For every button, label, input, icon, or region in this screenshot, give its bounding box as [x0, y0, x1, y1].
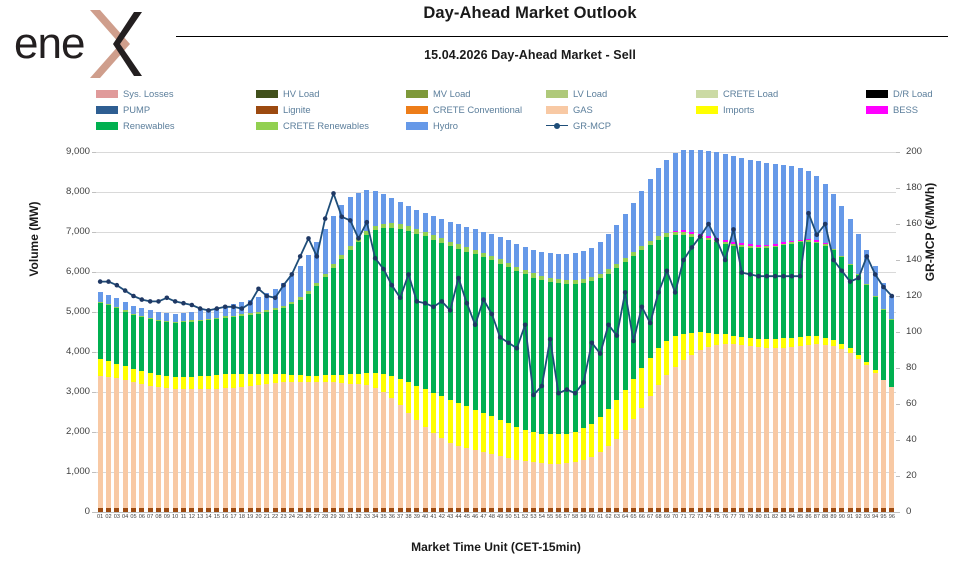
- gr-mcp-data-point[interactable]: [615, 333, 620, 338]
- gr-mcp-line-series: [96, 152, 896, 512]
- y2-axis-tick-mark: [896, 152, 900, 153]
- legend-item-gr-mcp[interactable]: GR-MCP: [546, 120, 611, 131]
- gr-mcp-data-point[interactable]: [831, 258, 836, 263]
- gr-mcp-data-point[interactable]: [590, 341, 595, 346]
- gr-mcp-data-point[interactable]: [648, 321, 653, 326]
- y2-axis-tick-label: 80: [906, 362, 946, 373]
- gr-mcp-data-point[interactable]: [115, 283, 120, 288]
- x-axis-tick-label: 80: [754, 514, 762, 520]
- gr-mcp-data-point[interactable]: [206, 308, 211, 313]
- x-axis-tick-label: 11: [179, 514, 187, 520]
- gr-mcp-line-path: [100, 193, 892, 395]
- gr-mcp-data-point[interactable]: [798, 274, 803, 279]
- x-axis-tick-label: 55: [546, 514, 554, 520]
- gr-mcp-data-point[interactable]: [356, 236, 361, 241]
- chart-legend: Sys. LossesHV LoadMV LoadLV LoadCRETE Lo…: [96, 88, 916, 134]
- gr-mcp-data-point[interactable]: [315, 254, 320, 259]
- x-axis-tick-label: 59: [579, 514, 587, 520]
- gr-mcp-data-point[interactable]: [240, 306, 245, 311]
- x-axis-tick-label: 88: [821, 514, 829, 520]
- legend-item-hv-load[interactable]: HV Load: [256, 88, 319, 99]
- gr-mcp-data-point[interactable]: [198, 306, 203, 311]
- legend-item-label: GR-MCP: [573, 120, 611, 131]
- legend-item-label: Hydro: [433, 120, 458, 131]
- gr-mcp-data-point[interactable]: [223, 305, 228, 310]
- legend-color-swatch-icon: [866, 106, 888, 114]
- gr-mcp-data-point[interactable]: [123, 288, 128, 293]
- x-axis-tick-label: 21: [263, 514, 271, 520]
- x-axis-tick-label: 63: [613, 514, 621, 520]
- legend-item-mv-load[interactable]: MV Load: [406, 88, 471, 99]
- legend-item-label: Renewables: [123, 120, 175, 131]
- x-axis-title: Market Time Unit (CET-15min): [96, 540, 896, 554]
- y-axis-tick-mark: [92, 472, 96, 473]
- gr-mcp-data-point[interactable]: [265, 294, 270, 299]
- gr-mcp-data-point[interactable]: [823, 222, 828, 227]
- legend-item-label: CRETE Renewables: [283, 120, 369, 131]
- x-axis-tick-label: 25: [296, 514, 304, 520]
- gr-mcp-data-point[interactable]: [531, 393, 536, 398]
- legend-color-swatch-icon: [406, 106, 428, 114]
- x-axis-tick-label: 29: [329, 514, 337, 520]
- legend-item-d-r-load[interactable]: D/R Load: [866, 88, 933, 99]
- x-axis-tick-label: 34: [371, 514, 379, 520]
- x-axis-tick-label: 75: [713, 514, 721, 520]
- gr-mcp-data-point[interactable]: [306, 236, 311, 241]
- x-axis-tick-label: 48: [488, 514, 496, 520]
- y2-axis-tick-mark: [896, 260, 900, 261]
- x-axis-tick-label: 26: [304, 514, 312, 520]
- gr-mcp-data-point[interactable]: [415, 299, 420, 304]
- x-axis-tick-label: 51: [513, 514, 521, 520]
- legend-item-lv-load[interactable]: LV Load: [546, 88, 607, 99]
- x-axis-tick-label: 95: [879, 514, 887, 520]
- gr-mcp-data-point[interactable]: [840, 269, 845, 274]
- y2-axis-tick-mark: [896, 404, 900, 405]
- x-axis-tick-label: 10: [171, 514, 179, 520]
- legend-item-crete-conventional[interactable]: CRETE Conventional: [406, 104, 522, 115]
- gr-mcp-data-point[interactable]: [298, 254, 303, 259]
- x-axis-tick-label: 53: [529, 514, 537, 520]
- y-axis-tick-label: 1,000: [34, 466, 90, 477]
- legend-item-pump[interactable]: PUMP: [96, 104, 150, 115]
- y-axis-tick-label: 5,000: [34, 306, 90, 317]
- legend-color-swatch-icon: [546, 90, 568, 98]
- gr-mcp-data-point[interactable]: [456, 276, 461, 281]
- gr-mcp-data-point[interactable]: [98, 279, 103, 284]
- x-axis-tick-label: 03: [113, 514, 121, 520]
- x-axis-tick-label: 71: [679, 514, 687, 520]
- gr-mcp-data-point[interactable]: [506, 341, 511, 346]
- gr-mcp-data-point[interactable]: [765, 274, 770, 279]
- gr-mcp-data-point[interactable]: [423, 301, 428, 306]
- x-axis-tick-label: 18: [238, 514, 246, 520]
- gr-mcp-data-point[interactable]: [731, 227, 736, 232]
- gr-mcp-data-point[interactable]: [523, 323, 528, 328]
- legend-item-renewables[interactable]: Renewables: [96, 120, 175, 131]
- legend-item-label: Lignite: [283, 104, 311, 115]
- y-axis-tick-mark: [92, 272, 96, 273]
- x-axis-tick-label: 90: [838, 514, 846, 520]
- y-axis-tick-label: 7,000: [34, 226, 90, 237]
- x-axis-tick-label: 43: [446, 514, 454, 520]
- y-axis-tick-label: 9,000: [34, 146, 90, 157]
- y-axis-tick-label: 8,000: [34, 186, 90, 197]
- gr-mcp-data-point[interactable]: [673, 290, 678, 295]
- gr-mcp-data-point[interactable]: [890, 294, 895, 299]
- x-axis-tick-label: 09: [163, 514, 171, 520]
- gr-mcp-data-point[interactable]: [140, 297, 145, 302]
- x-axis-tick-label: 04: [121, 514, 129, 520]
- svg-text:ene: ene: [14, 19, 84, 68]
- y-axis-tick-mark: [92, 512, 96, 513]
- x-axis-tick-label: 42: [438, 514, 446, 520]
- y-axis-left-title: Volume (MW): [27, 139, 41, 339]
- x-axis-tick-label: 13: [196, 514, 204, 520]
- x-axis-tick-label: 93: [863, 514, 871, 520]
- y-axis-tick-mark: [92, 192, 96, 193]
- gr-mcp-data-point[interactable]: [173, 299, 178, 304]
- legend-item-label: GAS: [573, 104, 593, 115]
- x-axis-tick-label: 91: [846, 514, 854, 520]
- x-axis-tick-label: 74: [704, 514, 712, 520]
- gr-mcp-data-point[interactable]: [781, 274, 786, 279]
- gr-mcp-data-point[interactable]: [440, 299, 445, 304]
- x-axis-tick-label: 28: [321, 514, 329, 520]
- x-axis-tick-label: 62: [604, 514, 612, 520]
- x-axis-tick-label: 96: [888, 514, 896, 520]
- y-axis-tick-label: 2,000: [34, 426, 90, 437]
- gr-mcp-data-point[interactable]: [131, 294, 136, 299]
- y2-axis-tick-mark: [896, 224, 900, 225]
- legend-item-label: Imports: [723, 104, 754, 115]
- y2-axis-tick-label: 40: [906, 434, 946, 445]
- chart-plot-area: [96, 152, 896, 512]
- x-axis-tick-label: 14: [204, 514, 212, 520]
- x-axis-tick-label: 76: [721, 514, 729, 520]
- gr-mcp-data-point[interactable]: [848, 279, 853, 284]
- x-axis-tick-label: 30: [338, 514, 346, 520]
- legend-color-swatch-icon: [256, 106, 278, 114]
- y-axis-tick-label: 0: [34, 506, 90, 517]
- gr-mcp-data-point[interactable]: [865, 254, 870, 259]
- legend-item-label: Sys. Losses: [123, 88, 174, 99]
- y-axis-tick-mark: [92, 312, 96, 313]
- x-axis-tick-label: 66: [638, 514, 646, 520]
- x-axis-tick-label: 17: [229, 514, 237, 520]
- gr-mcp-data-point[interactable]: [290, 272, 295, 277]
- x-axis-tick-label: 20: [254, 514, 262, 520]
- gr-mcp-data-point[interactable]: [148, 299, 153, 304]
- gr-mcp-data-point[interactable]: [406, 272, 411, 277]
- x-axis-tick-label: 27: [313, 514, 321, 520]
- x-axis-tick-label: 72: [688, 514, 696, 520]
- gr-mcp-data-point[interactable]: [281, 283, 286, 288]
- gr-mcp-data-point[interactable]: [465, 301, 470, 306]
- x-axis-tick-label: 60: [588, 514, 596, 520]
- y-axis-tick-mark: [92, 232, 96, 233]
- legend-item-label: BESS: [893, 104, 918, 115]
- legend-item-label: D/R Load: [893, 88, 933, 99]
- gr-mcp-data-point[interactable]: [748, 272, 753, 277]
- legend-item-imports[interactable]: Imports: [696, 104, 754, 115]
- x-axis-tick-label: 73: [696, 514, 704, 520]
- gr-mcp-data-point[interactable]: [490, 312, 495, 317]
- enex-logo: ene: [8, 8, 148, 80]
- y-axis-tick-label: 4,000: [34, 346, 90, 357]
- gr-mcp-data-point[interactable]: [623, 290, 628, 295]
- gr-mcp-data-point[interactable]: [640, 305, 645, 310]
- x-axis-tick-label: 06: [138, 514, 146, 520]
- title-divider: [176, 36, 948, 37]
- legend-item-gas[interactable]: GAS: [546, 104, 593, 115]
- gr-mcp-data-point[interactable]: [690, 245, 695, 250]
- gr-mcp-data-point[interactable]: [431, 305, 436, 310]
- gr-mcp-data-point[interactable]: [698, 234, 703, 239]
- x-axis-tick-label: 08: [154, 514, 162, 520]
- y-axis-tick-mark: [92, 352, 96, 353]
- legend-item-label: CRETE Conventional: [433, 104, 522, 115]
- x-axis-tick-label: 33: [363, 514, 371, 520]
- x-axis-tick-label: 52: [521, 514, 529, 520]
- x-axis-tick-label: 39: [413, 514, 421, 520]
- x-axis-tick-label: 40: [421, 514, 429, 520]
- gr-mcp-data-point[interactable]: [815, 233, 820, 238]
- y2-axis-tick-mark: [896, 188, 900, 189]
- x-axis-tick-label: 94: [871, 514, 879, 520]
- chart-header: ene Day-Ahead Market Outlook 15.04.2026 …: [0, 0, 958, 84]
- x-axis-tick-label: 37: [396, 514, 404, 520]
- legend-item-label: PUMP: [123, 104, 150, 115]
- x-axis-tick-label: 02: [104, 514, 112, 520]
- gr-mcp-data-point[interactable]: [856, 276, 861, 281]
- legend-color-swatch-icon: [406, 90, 428, 98]
- y2-axis-tick-label: 60: [906, 398, 946, 409]
- gr-mcp-data-point[interactable]: [215, 306, 220, 311]
- x-axis-tick-label: 05: [129, 514, 137, 520]
- legend-color-swatch-icon: [546, 106, 568, 114]
- legend-color-swatch-icon: [96, 106, 118, 114]
- gr-mcp-data-point[interactable]: [548, 337, 553, 342]
- gr-mcp-data-point[interactable]: [873, 272, 878, 277]
- x-axis-tick-label: 92: [854, 514, 862, 520]
- legend-item-crete-renewables[interactable]: CRETE Renewables: [256, 120, 369, 131]
- x-axis-tick-label: 12: [188, 514, 196, 520]
- y-axis-tick-label: 3,000: [34, 386, 90, 397]
- gr-mcp-data-point[interactable]: [606, 323, 611, 328]
- legend-color-swatch-icon: [256, 122, 278, 130]
- x-axis-tick-label: 31: [346, 514, 354, 520]
- y2-axis-tick-mark: [896, 512, 900, 513]
- x-axis-tick-label: 67: [646, 514, 654, 520]
- gr-mcp-data-point[interactable]: [390, 283, 395, 288]
- gr-mcp-data-point[interactable]: [398, 296, 403, 301]
- gr-mcp-data-point[interactable]: [256, 287, 261, 292]
- gr-mcp-data-point[interactable]: [348, 218, 353, 223]
- gr-mcp-data-point[interactable]: [715, 238, 720, 243]
- x-axis-tick-labels: 0102030405060708091011121314151617181920…: [96, 514, 896, 526]
- x-axis-tick-label: 01: [96, 514, 104, 520]
- gr-mcp-data-point[interactable]: [598, 351, 603, 356]
- y2-axis-tick-mark: [896, 440, 900, 441]
- x-axis-tick-label: 65: [629, 514, 637, 520]
- gr-mcp-data-point[interactable]: [756, 274, 761, 279]
- legend-line-swatch-icon: [546, 122, 568, 130]
- legend-color-swatch-icon: [866, 90, 888, 98]
- gr-mcp-data-point[interactable]: [473, 323, 478, 328]
- gr-mcp-data-point[interactable]: [340, 215, 345, 220]
- y-axis-tick-mark: [92, 392, 96, 393]
- x-axis-tick-label: 83: [779, 514, 787, 520]
- x-axis-tick-label: 58: [571, 514, 579, 520]
- x-axis-tick-label: 69: [663, 514, 671, 520]
- legend-color-swatch-icon: [96, 90, 118, 98]
- gr-mcp-data-point[interactable]: [515, 346, 520, 351]
- x-axis-tick-label: 57: [563, 514, 571, 520]
- gr-mcp-data-point[interactable]: [681, 258, 686, 263]
- gr-mcp-data-point[interactable]: [448, 308, 453, 313]
- x-axis-tick-label: 77: [729, 514, 737, 520]
- x-axis-tick-label: 68: [654, 514, 662, 520]
- x-axis-tick-label: 84: [788, 514, 796, 520]
- x-axis-tick-label: 82: [771, 514, 779, 520]
- x-axis-tick-label: 07: [146, 514, 154, 520]
- y2-axis-tick-mark: [896, 476, 900, 477]
- legend-item-bess[interactable]: BESS: [866, 104, 918, 115]
- x-axis-tick-label: 70: [671, 514, 679, 520]
- legend-item-lignite[interactable]: Lignite: [256, 104, 311, 115]
- legend-item-label: MV Load: [433, 88, 471, 99]
- y2-axis-tick-label: 20: [906, 470, 946, 481]
- legend-item-hydro[interactable]: Hydro: [406, 120, 458, 131]
- x-axis-tick-label: 45: [463, 514, 471, 520]
- gr-mcp-data-point[interactable]: [790, 274, 795, 279]
- legend-color-swatch-icon: [256, 90, 278, 98]
- x-axis-tick-label: 23: [279, 514, 287, 520]
- x-axis-tick-label: 47: [479, 514, 487, 520]
- y2-axis-tick-mark: [896, 332, 900, 333]
- x-axis-tick-label: 61: [596, 514, 604, 520]
- x-axis-tick-label: 36: [388, 514, 396, 520]
- x-axis-tick-label: 32: [354, 514, 362, 520]
- gridline: [96, 512, 896, 513]
- gr-mcp-data-point[interactable]: [373, 256, 378, 261]
- x-axis-tick-label: 56: [554, 514, 562, 520]
- x-axis-tick-label: 50: [504, 514, 512, 520]
- gr-mcp-data-point[interactable]: [273, 296, 278, 301]
- gr-mcp-data-point[interactable]: [656, 290, 661, 295]
- x-axis-tick-label: 16: [221, 514, 229, 520]
- x-axis-tick-label: 49: [496, 514, 504, 520]
- legend-item-crete-load[interactable]: CRETE Load: [696, 88, 778, 99]
- legend-color-swatch-icon: [696, 106, 718, 114]
- gr-mcp-data-point[interactable]: [231, 305, 236, 310]
- gr-mcp-data-point[interactable]: [106, 279, 111, 284]
- x-axis-tick-label: 44: [454, 514, 462, 520]
- gr-mcp-data-point[interactable]: [773, 274, 778, 279]
- legend-item-label: CRETE Load: [723, 88, 778, 99]
- x-axis-tick-label: 24: [288, 514, 296, 520]
- x-axis-tick-label: 89: [829, 514, 837, 520]
- legend-color-swatch-icon: [696, 90, 718, 98]
- gr-mcp-data-point[interactable]: [381, 267, 386, 272]
- x-axis-tick-label: 19: [246, 514, 254, 520]
- gr-mcp-data-point[interactable]: [331, 191, 336, 196]
- x-axis-tick-label: 86: [804, 514, 812, 520]
- gr-mcp-data-point[interactable]: [323, 216, 328, 221]
- x-axis-tick-label: 35: [379, 514, 387, 520]
- gr-mcp-data-point[interactable]: [498, 335, 503, 340]
- chart-subtitle: 15.04.2026 Day-Ahead Market - Sell: [180, 48, 880, 62]
- legend-item-sys-losses[interactable]: Sys. Losses: [96, 88, 174, 99]
- y-axis-tick-mark: [92, 432, 96, 433]
- gr-mcp-data-point[interactable]: [248, 301, 253, 306]
- gr-mcp-data-point[interactable]: [665, 269, 670, 274]
- gr-mcp-data-point[interactable]: [165, 296, 170, 301]
- legend-item-label: LV Load: [573, 88, 607, 99]
- y-axis-right-title: GR-MCP (€/MWh): [923, 122, 937, 342]
- x-axis-tick-label: 46: [471, 514, 479, 520]
- y2-axis-tick-mark: [896, 368, 900, 369]
- legend-color-swatch-icon: [406, 122, 428, 130]
- y2-axis-tick-mark: [896, 296, 900, 297]
- gr-mcp-data-point[interactable]: [581, 380, 586, 385]
- gr-mcp-data-point[interactable]: [631, 339, 636, 344]
- x-axis-tick-label: 79: [746, 514, 754, 520]
- gr-mcp-data-point[interactable]: [565, 387, 570, 392]
- x-axis-tick-label: 78: [738, 514, 746, 520]
- page-title: Day-Ahead Market Outlook: [180, 4, 880, 23]
- gr-mcp-data-point[interactable]: [881, 285, 886, 290]
- gr-mcp-data-point[interactable]: [190, 303, 195, 308]
- gr-mcp-data-point[interactable]: [723, 258, 728, 263]
- y2-axis-tick-label: 0: [906, 506, 946, 517]
- x-axis-tick-label: 85: [796, 514, 804, 520]
- gr-mcp-data-point[interactable]: [540, 384, 545, 389]
- x-axis-tick-label: 15: [213, 514, 221, 520]
- gr-mcp-data-point[interactable]: [706, 222, 711, 227]
- legend-color-swatch-icon: [96, 122, 118, 130]
- y-axis-tick-label: 6,000: [34, 266, 90, 277]
- x-axis-tick-label: 38: [404, 514, 412, 520]
- gr-mcp-data-point[interactable]: [573, 391, 578, 396]
- gr-mcp-data-point[interactable]: [481, 297, 486, 302]
- gr-mcp-data-point[interactable]: [181, 301, 186, 306]
- x-axis-tick-label: 87: [813, 514, 821, 520]
- legend-item-label: HV Load: [283, 88, 319, 99]
- gr-mcp-data-point[interactable]: [806, 211, 811, 216]
- x-axis-tick-label: 22: [271, 514, 279, 520]
- x-axis-tick-label: 54: [538, 514, 546, 520]
- x-axis-tick-label: 41: [429, 514, 437, 520]
- x-axis-tick-label: 81: [763, 514, 771, 520]
- x-axis-tick-label: 64: [621, 514, 629, 520]
- y-axis-tick-mark: [92, 152, 96, 153]
- gr-mcp-data-point[interactable]: [740, 270, 745, 275]
- gr-mcp-data-point[interactable]: [365, 220, 370, 225]
- gr-mcp-data-point[interactable]: [156, 299, 161, 304]
- gr-mcp-data-point[interactable]: [556, 391, 561, 396]
